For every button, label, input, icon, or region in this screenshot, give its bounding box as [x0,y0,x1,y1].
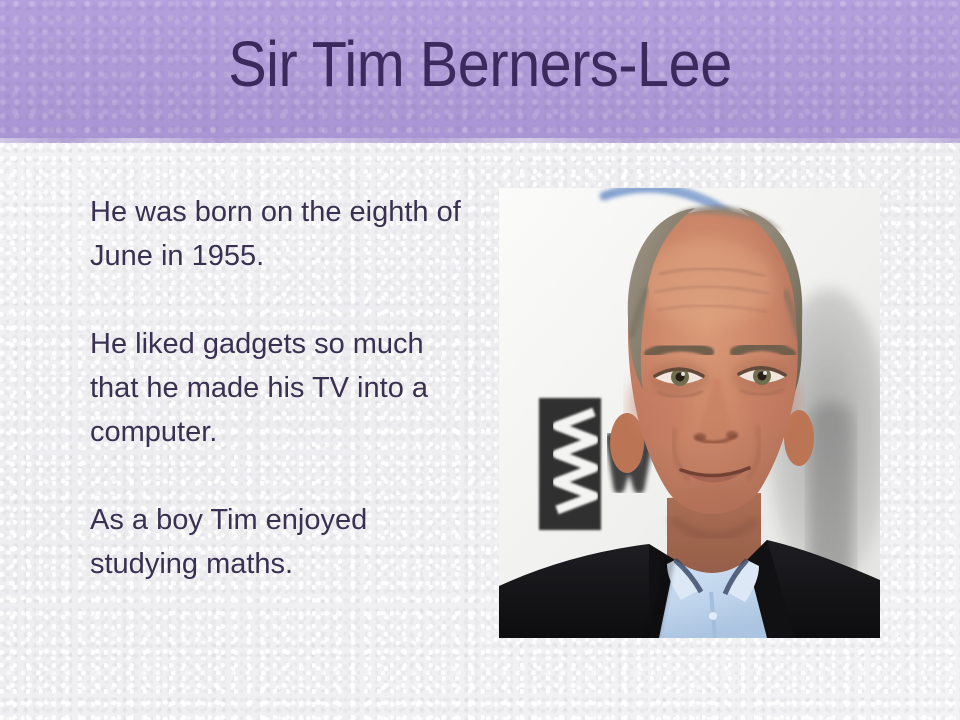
page-title: Sir Tim Berners-Lee [48,27,912,101]
portrait-photo [499,188,880,638]
banner-bottom-edge [0,138,960,143]
body-text-block: He was born on the eighth of June in 195… [90,190,470,586]
paragraph-birth: He was born on the eighth of June in 195… [90,190,470,278]
paragraph-maths: As a boy Tim enjoyed studying maths. [90,498,470,586]
portrait-photo-artwork [499,188,880,638]
presentation-slide: Sir Tim Berners-Lee He was born on the e… [0,0,960,720]
paragraph-gadgets: He liked gadgets so much that he made hi… [90,322,470,454]
